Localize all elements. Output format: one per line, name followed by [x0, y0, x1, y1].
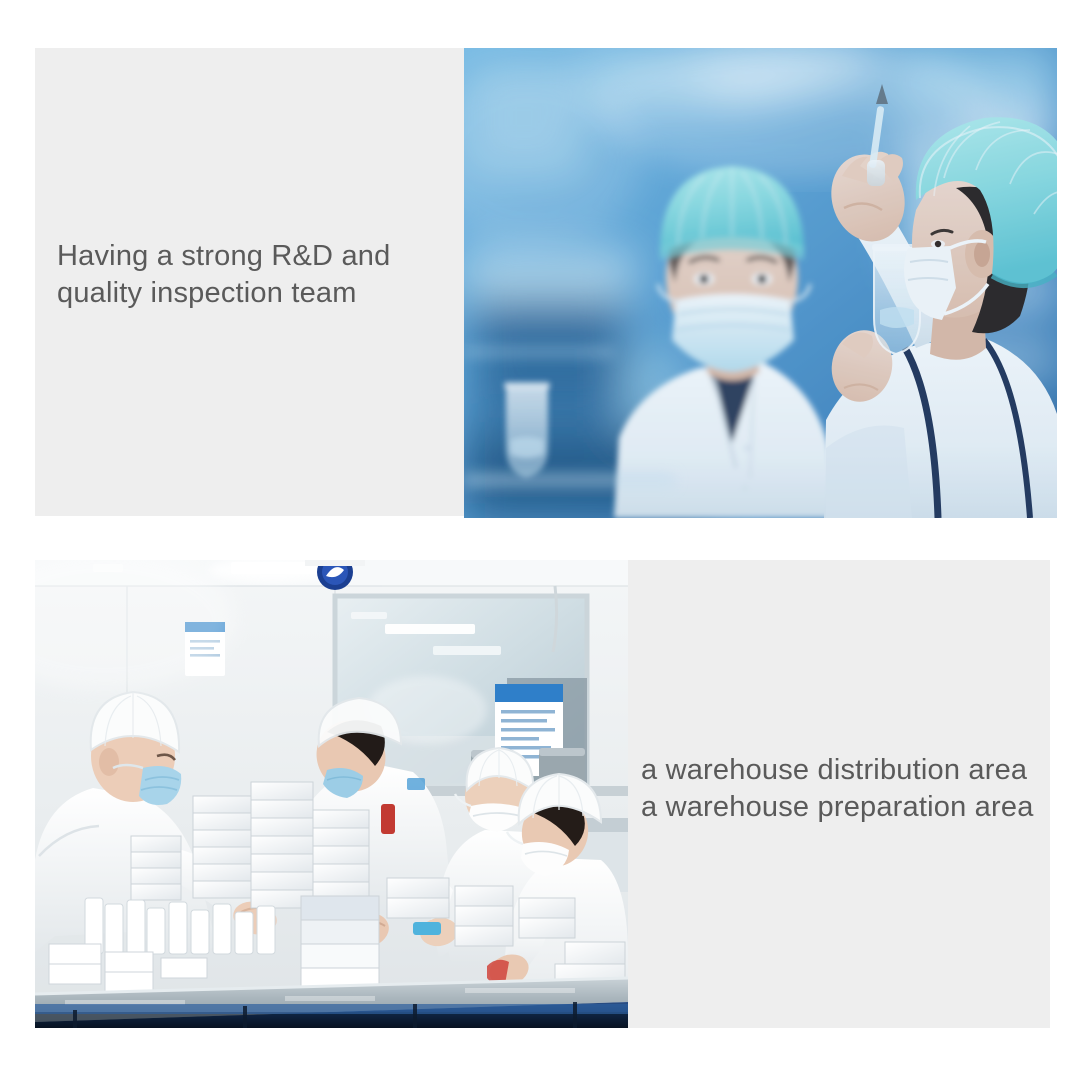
- lab-technicians-illustration: [464, 48, 1057, 518]
- page-root: Having a strong R&D and quality inspecti…: [0, 0, 1080, 1080]
- caption-warehouse-areas: a warehouse distribution area a warehous…: [641, 752, 1051, 826]
- warehouse-packing-illustration: [35, 560, 628, 1028]
- caption-rd-quality-team: Having a strong R&D and quality inspecti…: [57, 238, 457, 312]
- warehouse-packing-photo: [35, 560, 628, 1028]
- lab-technicians-photo: [464, 48, 1057, 518]
- section-rd-quality-team: Having a strong R&D and quality inspecti…: [35, 48, 1057, 518]
- section-warehouse-areas: a warehouse distribution area a warehous…: [35, 560, 1050, 1028]
